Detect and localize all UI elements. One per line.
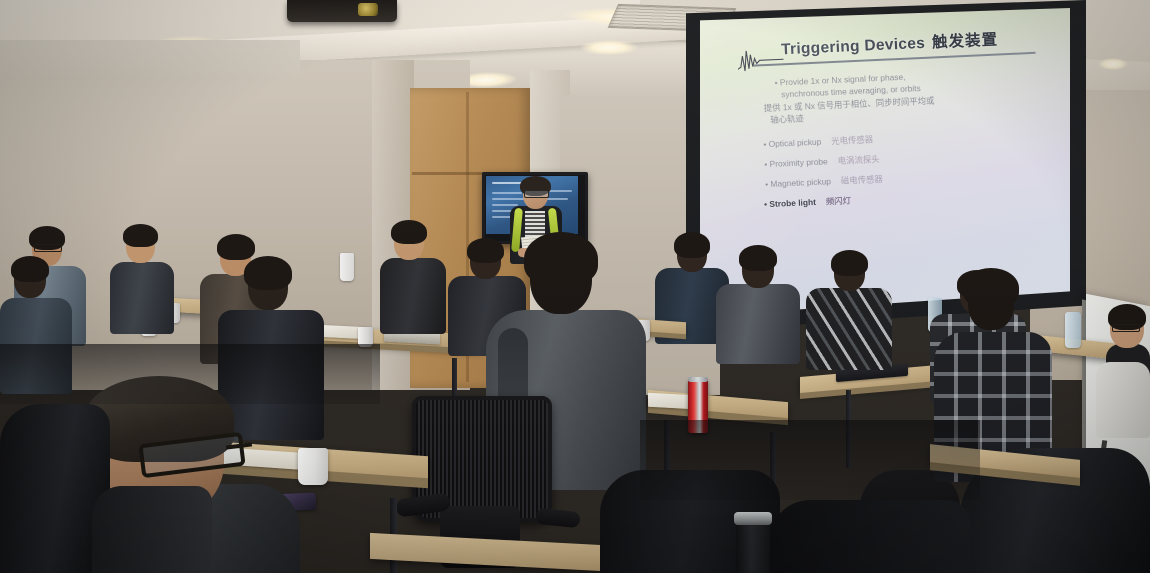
shadow (0, 344, 380, 404)
attendee (110, 226, 174, 326)
slide-bullet: • Optical pickup光电传感器 (763, 133, 873, 150)
thermos-cap (734, 512, 772, 525)
slide-bullet: • Proximity probe电涡流探头 (764, 153, 880, 170)
glasses-icon (524, 190, 549, 198)
shadow (640, 420, 980, 500)
recessed-downlight-icon (580, 40, 638, 55)
office-chair (92, 486, 212, 573)
ceiling-projector (287, 0, 397, 22)
attendee (1096, 316, 1150, 436)
office-chair (770, 500, 970, 573)
paper-cup (340, 253, 354, 281)
slide-bullet: • Magnetic pickup磁电传感器 (765, 173, 883, 190)
glasses-icon (34, 244, 62, 252)
recessed-downlight-icon (1098, 58, 1128, 70)
left-wall (0, 40, 300, 80)
projector-lens-icon (358, 3, 378, 16)
waveform-icon (737, 45, 784, 73)
chair-armrest (535, 508, 580, 529)
soda-can-lid (688, 377, 708, 382)
slide-bullet: • Strobe light频闪灯 (764, 194, 851, 210)
classroom-photo: Triggering Devices触发装置 • Provide 1x or N… (0, 0, 1150, 573)
attendee (806, 250, 892, 362)
paper-cup (298, 448, 328, 485)
attendee (716, 246, 800, 356)
water-bottle (1065, 312, 1081, 348)
slide-bullet: 轴心轨迹 (770, 112, 804, 126)
attendee (380, 222, 446, 328)
